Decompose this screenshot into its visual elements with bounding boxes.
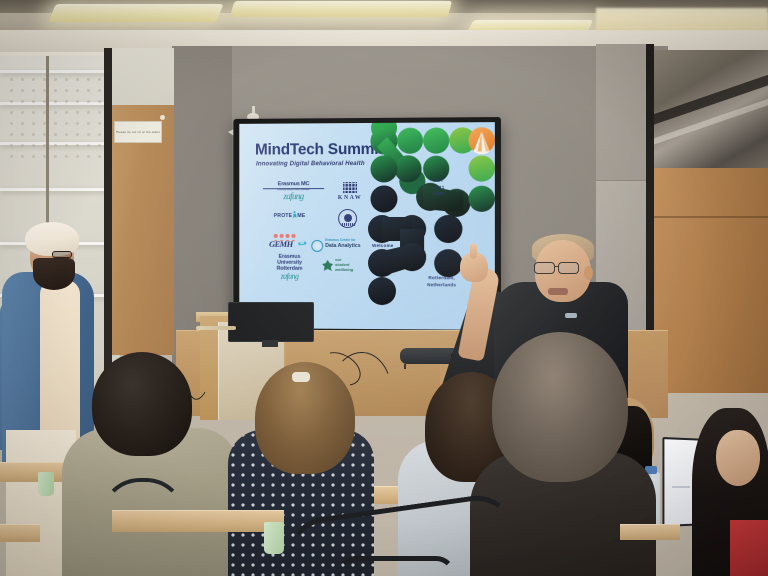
logo-university-seal xyxy=(324,209,370,228)
institution-building-icon xyxy=(343,182,357,193)
door-handle[interactable] xyxy=(160,115,165,120)
hair-clip xyxy=(292,372,310,382)
seal-crest-icon xyxy=(338,209,357,228)
sparkle-plant-icon xyxy=(322,260,333,271)
paper-cup xyxy=(38,472,54,496)
chair[interactable] xyxy=(100,478,186,558)
audience-member-face xyxy=(716,430,760,486)
logo-protect-me: PROTEME xyxy=(259,211,320,220)
fingerprint-icon xyxy=(311,240,323,252)
frosted-dot-pattern xyxy=(6,74,102,164)
slide-label-location: Rotterdam,Netherlands xyxy=(427,275,456,288)
paper-cup xyxy=(264,522,284,554)
laptop-screen-text-line xyxy=(672,486,690,488)
conference-room-photo: Please do not sit on the stairs MindTech… xyxy=(0,0,768,576)
cove-light-glow xyxy=(596,8,768,30)
presenter-right-shirt-logo xyxy=(565,313,577,318)
logo-gemh-badge: lab xyxy=(298,241,306,245)
ceiling-light-tube xyxy=(230,1,453,17)
door-frame xyxy=(104,48,112,400)
right-window-glass xyxy=(654,50,768,174)
logo-erasmus-mc: Erasmus MC University Medical Center Rot… xyxy=(263,181,324,201)
ceiling-light-tube xyxy=(48,4,223,22)
presenter-left-beard xyxy=(33,258,75,290)
presenter-right-mouth xyxy=(548,288,568,295)
audience-member-red-garment xyxy=(730,520,768,576)
lectern-monitor[interactable] xyxy=(228,302,314,342)
wall-sign: Please do not sit on the stairs xyxy=(114,121,162,143)
partner-logo-block: Erasmus MC University Medical Center Rot… xyxy=(255,181,372,293)
desk xyxy=(620,524,680,540)
logo-erasmus-data-analytics: Erasmus Centre for Data Analytics xyxy=(312,239,374,249)
wall-sign-text: Please do not sit on the stairs xyxy=(116,130,160,135)
desk xyxy=(0,524,40,542)
logo-knaw: KNAW xyxy=(328,182,372,201)
logo-student-wellbeing: ourstudentwellbeing xyxy=(322,257,374,272)
gooseneck-microphone[interactable] xyxy=(196,326,236,330)
logo-gemh: GEMHlab xyxy=(263,233,306,250)
logo-ecda-line2: Data Analytics xyxy=(325,243,374,249)
chair[interactable] xyxy=(336,556,456,576)
monitor-stand xyxy=(262,340,278,347)
logo-erasmus-mc-script: zafung xyxy=(263,191,324,201)
audience-member-head xyxy=(492,332,628,482)
logo-eur-script: zafung xyxy=(257,271,322,280)
logo-eur-name: ErasmusUniversityRotterdam xyxy=(257,255,322,273)
logo-erasmus-mc-name: Erasmus MC xyxy=(263,181,324,188)
slide-label-date: OCT10,112024 xyxy=(432,178,444,198)
presentation-slide: MindTech Summit Innovating Digital Behav… xyxy=(239,122,495,330)
presenter-right-pointing-finger xyxy=(470,243,477,259)
presenter-left-glasses xyxy=(52,251,72,258)
slide-label-welcome: Welcome xyxy=(372,243,393,250)
right-wood-panel xyxy=(654,168,768,393)
slide-subtitle: Innovating Digital Behavioral Health xyxy=(256,160,365,167)
logo-knaw-name: KNAW xyxy=(328,194,372,201)
logo-erasmus-university: ErasmusUniversityRotterdam zafung xyxy=(257,255,322,281)
logo-protect-me-name: PROTEME xyxy=(259,211,320,220)
person-figure-icon xyxy=(292,211,297,218)
logo-gemh-name: GEMH xyxy=(269,239,293,249)
presenter-right-glasses xyxy=(534,262,588,274)
audience-member-head xyxy=(92,352,192,456)
slide-title: MindTech Summit xyxy=(255,141,383,160)
right-wood-panel-seam xyxy=(654,216,768,218)
